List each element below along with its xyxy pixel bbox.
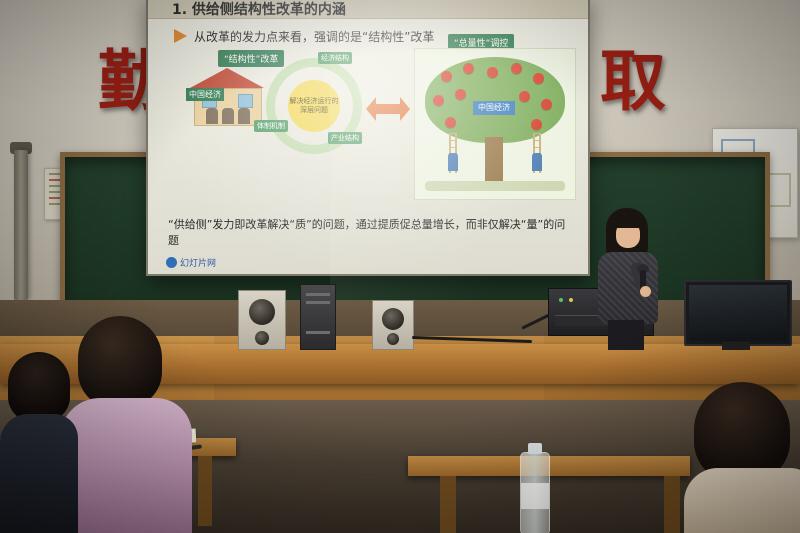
- apple: [519, 91, 530, 102]
- student-right-front: [684, 382, 800, 533]
- speaker-tweeter: [255, 331, 269, 345]
- cycle-node: 经济结构: [318, 52, 352, 64]
- power-led-icon: [559, 298, 563, 302]
- projection-screen: 1. 供给侧结构性改革的内涵 从改革的发力点来看，强调的是“结构性”改革 “结构…: [146, 0, 590, 276]
- slide-heading: 1. 供给侧结构性改革的内涵: [172, 0, 346, 19]
- desk-leg: [440, 476, 456, 533]
- speaker-driver: [382, 308, 404, 330]
- speaker-right: [372, 300, 414, 350]
- desktop-computer-tower[interactable]: [300, 284, 336, 350]
- apple: [441, 71, 452, 82]
- presenter: [592, 208, 664, 346]
- presentation-slide: 1. 供给侧结构性改革的内涵 从改革的发力点来看，强调的是“结构性”改革 “结构…: [148, 0, 588, 274]
- house-figure: [206, 108, 218, 124]
- arrow-left-head: [366, 97, 376, 121]
- apple: [455, 89, 466, 100]
- desk-leg: [664, 476, 680, 533]
- apple: [445, 117, 456, 128]
- status-led-icon: [569, 298, 573, 302]
- student-jacket: [60, 398, 192, 533]
- double-arrow-icon: [366, 96, 410, 122]
- student-far-left: [0, 352, 78, 533]
- bottle-label: [521, 483, 549, 509]
- slide-logo: 幻灯片网: [166, 256, 216, 269]
- bottle-cap: [528, 443, 542, 454]
- optical-drive-slot[interactable]: [306, 293, 330, 296]
- slide-lead-text: 从改革的发力点来看，强调的是“结构性”改革: [194, 28, 574, 45]
- student-jacket: [684, 468, 800, 533]
- wall-pipe: [14, 150, 28, 300]
- front-port-panel: [306, 331, 330, 334]
- house-window: [238, 94, 253, 108]
- apple: [487, 67, 498, 78]
- speaker-tweeter: [387, 333, 399, 345]
- apple: [463, 63, 474, 74]
- photo-scene: 勤 取 1. 供给侧结构性改革的内涵 从改革的发力点来看，强调的是“结构性”改革…: [0, 0, 800, 533]
- person-picking-fruit: [448, 153, 458, 171]
- presenter-bangs: [612, 216, 644, 228]
- student-head: [8, 352, 70, 422]
- cycle-center-label: 解决经济运行的深层问题: [288, 80, 340, 132]
- house-roof: [190, 68, 264, 88]
- drive-slot: [306, 301, 330, 304]
- presenter-hand: [640, 286, 651, 297]
- arrow-bar: [374, 104, 402, 114]
- slide-footer-text: “供给侧”发力即改革解决“质”的问题，通过提质促总量增长，而非仅解决“量”的问题: [168, 217, 568, 248]
- apple: [531, 119, 542, 130]
- logo-mark-icon: [166, 257, 177, 268]
- cycle-node: 产业结构: [328, 132, 362, 144]
- presenter-lower-body: [608, 320, 644, 350]
- monitor-screen: [689, 285, 787, 341]
- logo-text: 幻灯片网: [180, 256, 216, 269]
- student-left-front: [60, 316, 192, 533]
- tree-illustration: 中国经济: [414, 48, 576, 200]
- house-figure: [238, 108, 250, 124]
- desk-leg: [198, 456, 212, 526]
- house-label: 中国经济: [186, 88, 224, 101]
- bullet-arrow-icon: [174, 29, 187, 43]
- house-figure: [222, 108, 234, 124]
- wall-character-right: 取: [600, 48, 666, 114]
- student-head: [78, 316, 162, 408]
- apple: [433, 95, 444, 106]
- person-picking-fruit: [532, 153, 542, 171]
- apple: [511, 63, 522, 74]
- apple: [533, 73, 544, 84]
- speaker-driver: [249, 299, 275, 325]
- computer-monitor[interactable]: [684, 280, 792, 346]
- student-head: [694, 382, 790, 482]
- speaker-left: [238, 290, 286, 350]
- tree-label: 中国经济: [473, 101, 515, 115]
- tree-ground: [425, 181, 565, 191]
- student-jacket: [0, 414, 78, 533]
- water-bottle: [520, 452, 550, 533]
- apple: [541, 99, 552, 110]
- arrow-right-head: [400, 97, 410, 121]
- cycle-node: 体制机制: [254, 120, 288, 132]
- monitor-stand: [722, 342, 750, 350]
- cycle-diagram: 解决经济运行的深层问题 经济结构 产业结构 体制机制: [266, 58, 362, 154]
- tree-trunk: [485, 137, 503, 183]
